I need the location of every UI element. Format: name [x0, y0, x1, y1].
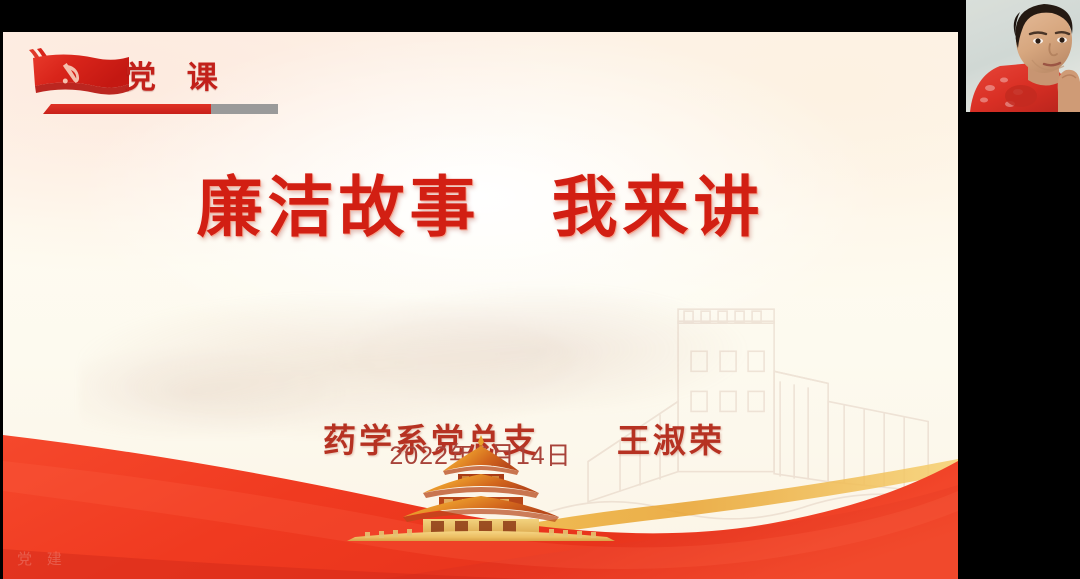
badge-bar-red-segment — [43, 104, 211, 114]
presenter-video-thumbnail[interactable] — [966, 0, 1080, 112]
temple-of-heaven-icon — [331, 433, 631, 541]
badge-bar-grey-segment — [211, 104, 278, 114]
party-flag-icon — [21, 46, 139, 108]
screen-share-window: 党 课 廉洁故事 我来讲 药学系党总支王淑荣 2022年5月14日 — [0, 0, 1080, 579]
slide-main-title: 廉洁故事 我来讲 — [3, 154, 958, 250]
badge-title: 党 课 — [125, 52, 228, 97]
shared-slide[interactable]: 党 课 廉洁故事 我来讲 药学系党总支王淑荣 2022年5月14日 — [3, 32, 958, 579]
badge-underline-bar — [43, 104, 278, 114]
party-lecture-badge: 党 课 — [21, 40, 321, 126]
